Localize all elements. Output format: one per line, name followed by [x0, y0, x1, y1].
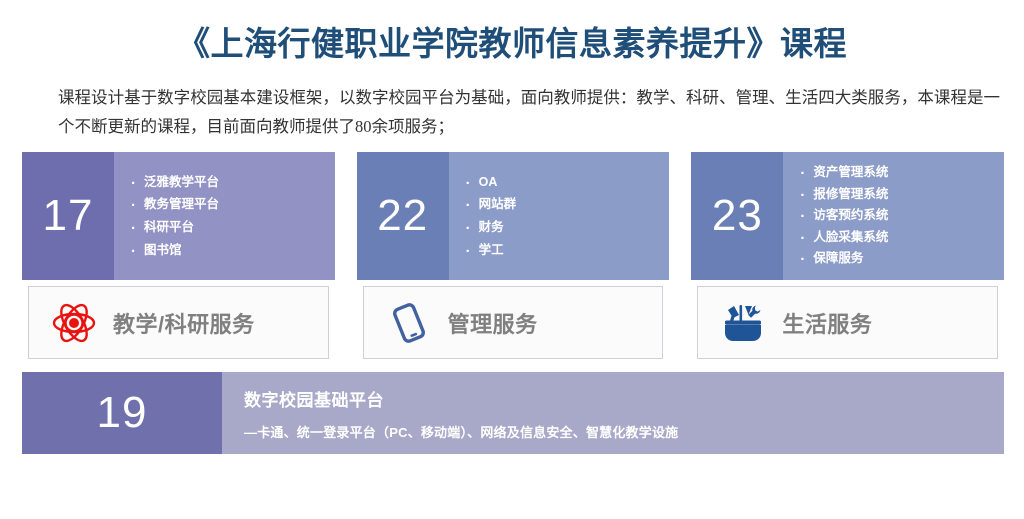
card-item-list: 资产管理系统 报修管理系统 访客预约系统 人脸采集系统 保障服务 — [783, 152, 1004, 280]
card-count-badge: 22 — [357, 152, 449, 280]
list-item: 财务 — [465, 216, 662, 239]
platform-title: 数字校园基础平台 — [244, 386, 1004, 411]
service-card-teaching-research[interactable]: 17 泛雅教学平台 教务管理平台 科研平台 图书馆 — [22, 152, 335, 359]
list-item: 图书馆 — [130, 239, 327, 262]
service-label: 管理服务 — [448, 307, 538, 339]
list-item: 报修管理系统 — [799, 184, 996, 206]
service-card-life[interactable]: 23 资产管理系统 报修管理系统 访客预约系统 人脸采集系统 保障服务 — [691, 152, 1004, 359]
list-item: 学工 — [465, 239, 662, 262]
intro-paragraph: 课程设计基于数字校园基本建设框架，以数字校园平台为基础，面向教师提供：教学、科研… — [40, 84, 1000, 142]
platform-body: 数字校园基础平台 —卡通、统一登录平台（PC、移动端）、网络及信息安全、智慧化教… — [222, 372, 1004, 454]
list-item: 教务管理平台 — [130, 193, 327, 216]
list-item: 访客预约系统 — [799, 205, 996, 227]
platform-subtitle: —卡通、统一登录平台（PC、移动端）、网络及信息安全、智慧化教学设施 — [244, 422, 1004, 441]
list-item: OA — [465, 171, 662, 194]
list-item: 保障服务 — [799, 248, 996, 270]
list-item: 泛雅教学平台 — [130, 171, 327, 194]
card-top: 22 OA 网站群 财务 学工 — [357, 152, 670, 280]
service-label: 生活服务 — [782, 307, 872, 339]
card-count-badge: 17 — [22, 152, 114, 280]
page-title: 《上海行健职业学院教师信息素养提升》课程 — [0, 0, 1024, 62]
card-count-badge: 23 — [691, 152, 783, 280]
card-item-list: OA 网站群 财务 学工 — [449, 152, 670, 280]
card-service-footer[interactable]: 管理服务 — [363, 286, 664, 359]
smartphone-icon — [386, 300, 432, 346]
service-card-management[interactable]: 22 OA 网站群 财务 学工 管理服务 — [357, 152, 670, 359]
service-label: 教学/科研服务 — [113, 307, 255, 339]
atom-icon — [51, 300, 97, 346]
platform-bottom-bar[interactable]: 19 数字校园基础平台 —卡通、统一登录平台（PC、移动端）、网络及信息安全、智… — [22, 372, 1004, 454]
list-item: 网站群 — [465, 193, 662, 216]
card-top: 17 泛雅教学平台 教务管理平台 科研平台 图书馆 — [22, 152, 335, 280]
list-item: 资产管理系统 — [799, 162, 996, 184]
platform-count-badge: 19 — [22, 372, 222, 454]
toolbox-icon — [720, 300, 766, 346]
card-top: 23 资产管理系统 报修管理系统 访客预约系统 人脸采集系统 保障服务 — [691, 152, 1004, 280]
list-item: 科研平台 — [130, 216, 327, 239]
card-item-list: 泛雅教学平台 教务管理平台 科研平台 图书馆 — [114, 152, 335, 280]
list-item: 人脸采集系统 — [799, 227, 996, 249]
service-cards-row: 17 泛雅教学平台 教务管理平台 科研平台 图书馆 — [22, 152, 1004, 359]
card-service-footer[interactable]: 生活服务 — [697, 286, 998, 359]
card-service-footer[interactable]: 教学/科研服务 — [28, 286, 329, 359]
